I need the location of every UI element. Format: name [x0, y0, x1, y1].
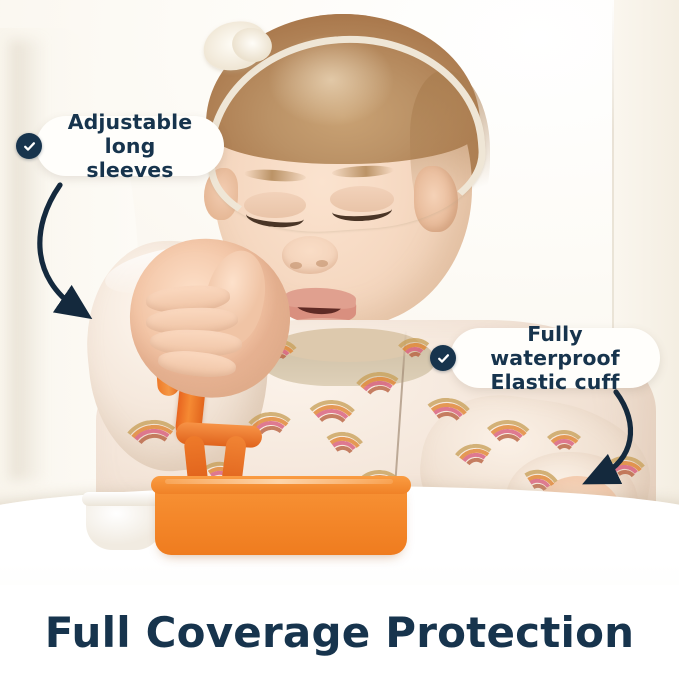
product-feature-image: Adjustable long sleeves Fully waterproof…: [0, 0, 679, 679]
photo-area: Adjustable long sleeves Fully waterproof…: [0, 0, 679, 585]
rainbow-motif: [347, 369, 410, 405]
high-chair-shadow: [10, 40, 46, 480]
callout-label-adjustable-long-sleeves: Adjustable long sleeves: [58, 110, 202, 183]
orange-bowl-highlight: [165, 479, 393, 484]
baby-nostril-right: [316, 260, 328, 267]
baby-nose: [282, 236, 338, 274]
callout-pill-fully-waterproof-elastic-cuff[interactable]: Fully waterproof Elastic cuff: [450, 328, 660, 388]
rainbow-motif: [540, 430, 588, 454]
callout-label-fully-waterproof-elastic-cuff: Fully waterproof Elastic cuff: [472, 322, 638, 395]
check-badge-icon: [16, 133, 42, 159]
rainbow-motif: [417, 395, 480, 431]
baby-nostril-left: [290, 262, 302, 269]
headline-bar: Full Coverage Protection: [0, 585, 679, 679]
callout-pill-adjustable-long-sleeves[interactable]: Adjustable long sleeves: [36, 116, 224, 176]
check-badge-icon: [430, 345, 456, 371]
rainbow-motif: [477, 419, 538, 451]
page-title: Full Coverage Protection: [45, 608, 635, 657]
rainbow-motif: [599, 453, 653, 484]
